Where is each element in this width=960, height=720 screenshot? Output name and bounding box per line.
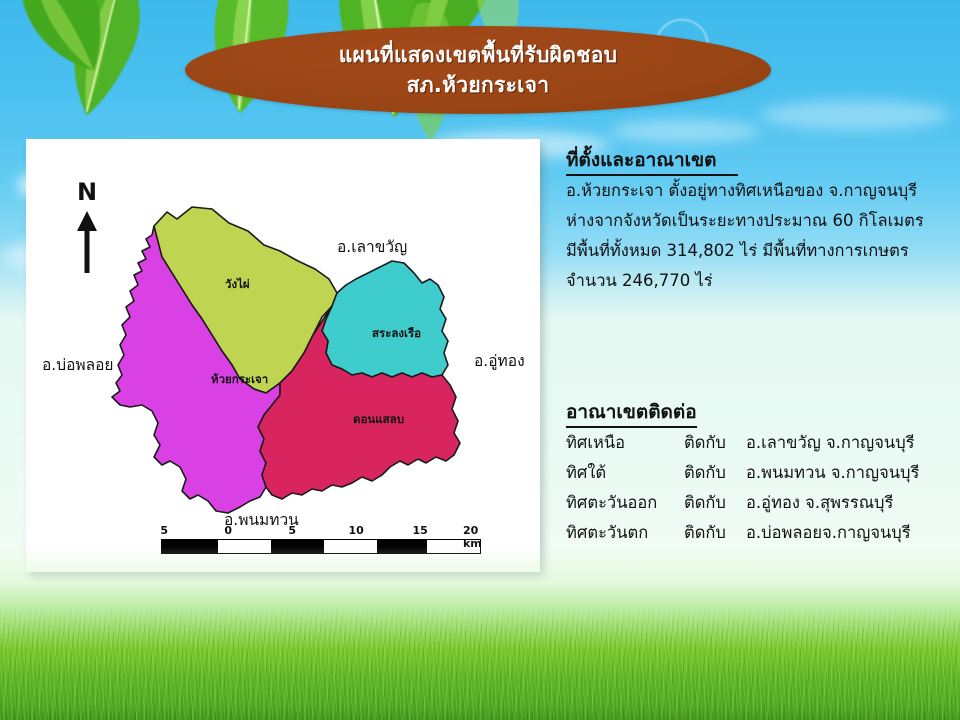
section-borders-heading: อาณาเขตติดต่อ xyxy=(566,400,934,424)
location-line: มีพื้นที่ทั้งหมด 314,802 ไร่ มีพื้นที่ทา… xyxy=(566,236,934,266)
district-label-wang-phai: วังไผ่ xyxy=(225,276,250,294)
scale-tick: 10 xyxy=(349,524,364,537)
border-row: ทิศเหนือ ติดกับ อ.เลาขวัญ จ.กาญจนบุรี xyxy=(566,428,934,458)
map-panel[interactable]: N xyxy=(26,139,540,572)
district-label-don-salaep: ดอนแสลบ xyxy=(353,411,404,429)
scale-tick: 5 xyxy=(160,524,168,537)
border-verb: ติดกับ xyxy=(684,458,746,488)
border-place: อ.อู่ทอง จ.สุพรรณบุรี xyxy=(746,488,934,518)
cloud-decoration xyxy=(760,100,950,130)
section-location-heading: ที่ตั้งและอาณาเขต xyxy=(566,148,934,172)
scale-tick: 0 xyxy=(224,524,232,537)
section-location: ที่ตั้งและอาณาเขต อ.ห้วยกระเจา ตั้งอยู่ท… xyxy=(566,148,934,296)
border-direction: ทิศเหนือ xyxy=(566,428,684,458)
scale-tick: 15 xyxy=(413,524,428,537)
neighbor-label-bo-phloi: อ.บ่อพลอย xyxy=(42,352,114,377)
grass-field-decoration xyxy=(0,545,960,720)
border-row: ทิศตะวันตก ติดกับ อ.บ่อพลอยจ.กาญจนบุรี xyxy=(566,518,934,548)
border-place: อ.พนมทวน จ.กาญจนบุรี xyxy=(746,458,934,488)
border-row: ทิศตะวันออก ติดกับ อ.อู่ทอง จ.สุพรรณบุรี xyxy=(566,488,934,518)
border-place: อ.เลาขวัญ จ.กาญจนบุรี xyxy=(746,428,934,458)
border-verb: ติดกับ xyxy=(684,428,746,458)
border-verb: ติดกับ xyxy=(684,518,746,548)
border-place: อ.บ่อพลอยจ.กาญจนบุรี xyxy=(746,518,934,548)
cloud-decoration xyxy=(610,120,760,142)
section-borders: อาณาเขตติดต่อ ทิศเหนือ ติดกับ อ.เลาขวัญ … xyxy=(566,400,934,548)
district-label-huai-krachao: ห้วยกระเจา xyxy=(211,371,268,389)
location-line: อ.ห้วยกระเจา ตั้งอยู่ทางทิศเหนือของ จ.กา… xyxy=(566,176,934,206)
location-line: ห่างจากจังหวัดเป็นระยะทางประมาณ 60 กิโลเ… xyxy=(566,206,934,236)
map-image: N xyxy=(26,139,540,572)
border-row: ทิศใต้ ติดกับ อ.พนมทวน จ.กาญจนบุรี xyxy=(566,458,934,488)
neighbor-label-u-thong: อ.อู่ทอง xyxy=(474,348,525,373)
scale-tick-labels: 5 0 5 10 15 20 km xyxy=(161,524,481,539)
scale-tick: 5 xyxy=(288,524,296,537)
district-shape-sa-long-ruea xyxy=(322,261,448,377)
border-direction: ทิศตะวันออก xyxy=(566,488,684,518)
title-line-2: สภ.ห้วยกระเจา xyxy=(407,70,550,100)
slide-canvas: แผนที่แสดงเขตพื้นที่รับผิดชอบ สภ.ห้วยกระ… xyxy=(0,0,960,720)
location-line: จำนวน 246,770 ไร่ xyxy=(566,266,934,296)
border-direction: ทิศใต้ xyxy=(566,458,684,488)
border-direction: ทิศตะวันตก xyxy=(566,518,684,548)
title-line-1: แผนที่แสดงเขตพื้นที่รับผิดชอบ xyxy=(339,40,618,70)
border-verb: ติดกับ xyxy=(684,488,746,518)
slide-title-banner: แผนที่แสดงเขตพื้นที่รับผิดชอบ สภ.ห้วยกระ… xyxy=(185,26,771,114)
district-label-sa-long-ruea: สระลงเรือ xyxy=(372,325,421,343)
neighbor-label-lao-khwan: อ.เลาขวัญ xyxy=(337,234,407,259)
